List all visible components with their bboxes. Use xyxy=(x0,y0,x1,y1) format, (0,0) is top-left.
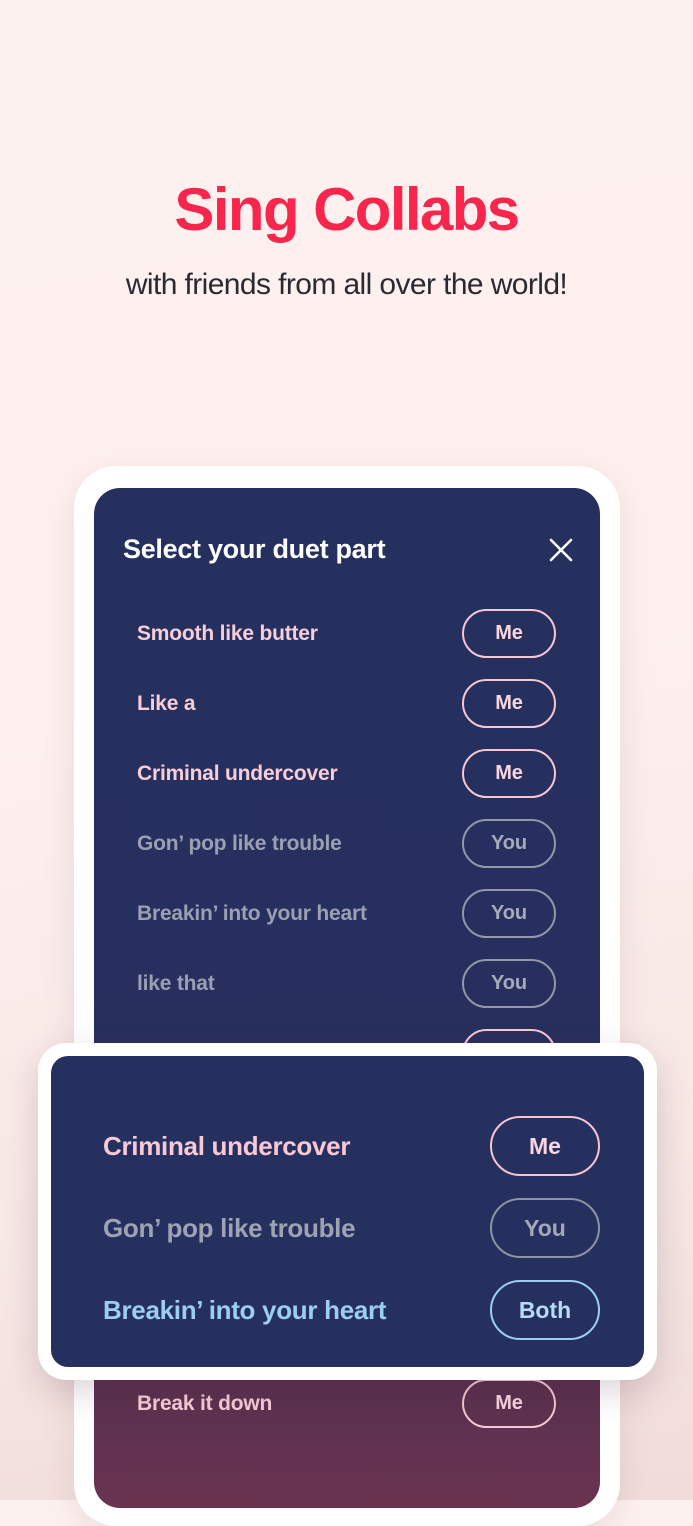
list-item[interactable]: like that You xyxy=(94,948,600,1018)
overlay-card-body: Criminal undercover Me Gon’ pop like tro… xyxy=(51,1056,644,1367)
lyric-text: Criminal undercover xyxy=(137,763,462,784)
overlay-list-item[interactable]: Gon’ pop like trouble You xyxy=(51,1187,644,1269)
list-item[interactable]: Criminal undercover Me xyxy=(94,738,600,808)
lyric-text: Like a xyxy=(137,693,462,714)
assignment-pill-me[interactable]: Me xyxy=(490,1116,600,1176)
overlay-list-item[interactable]: Criminal undercover Me xyxy=(51,1105,644,1187)
modal-title: Select your duet part xyxy=(123,534,385,565)
assignment-pill-me[interactable]: Me xyxy=(462,1379,556,1428)
assignment-pill-you[interactable]: You xyxy=(490,1198,600,1258)
overlay-callout-card: Criminal undercover Me Gon’ pop like tro… xyxy=(38,1043,657,1380)
list-item[interactable]: Gon’ pop like trouble You xyxy=(94,808,600,878)
assignment-pill-you[interactable]: You xyxy=(462,819,556,868)
page-subtitle: with friends from all over the world! xyxy=(0,267,693,303)
page-title: Sing Collabs xyxy=(0,178,693,241)
assignment-pill-you[interactable]: You xyxy=(462,889,556,938)
lyric-text: Breakin’ into your heart xyxy=(137,903,462,924)
lyric-text: Breakin’ into your heart xyxy=(103,1297,490,1323)
list-item[interactable]: Like a Me xyxy=(94,668,600,738)
assignment-pill-me[interactable]: Me xyxy=(462,749,556,798)
close-icon[interactable] xyxy=(544,533,578,567)
assignment-pill-me[interactable]: Me xyxy=(462,609,556,658)
assignment-pill-me[interactable]: Me xyxy=(462,679,556,728)
overlay-list-item[interactable]: Breakin’ into your heart Both xyxy=(51,1269,644,1351)
modal-header: Select your duet part xyxy=(94,488,600,598)
lyric-text: Break it down xyxy=(137,1393,462,1414)
list-item[interactable]: Smooth like butter Me xyxy=(94,598,600,668)
lyric-text: like that xyxy=(137,973,462,994)
assignment-pill-both[interactable]: Both xyxy=(490,1280,600,1340)
lyric-text: Criminal undercover xyxy=(103,1133,490,1159)
lyric-text: Gon’ pop like trouble xyxy=(103,1215,490,1241)
list-item[interactable]: Breakin’ into your heart You xyxy=(94,878,600,948)
assignment-pill-you[interactable]: You xyxy=(462,959,556,1008)
lyric-text: Gon’ pop like trouble xyxy=(137,833,462,854)
promo-headline-block: Sing Collabs with friends from all over … xyxy=(0,178,693,303)
lyric-text: Smooth like butter xyxy=(137,623,462,644)
